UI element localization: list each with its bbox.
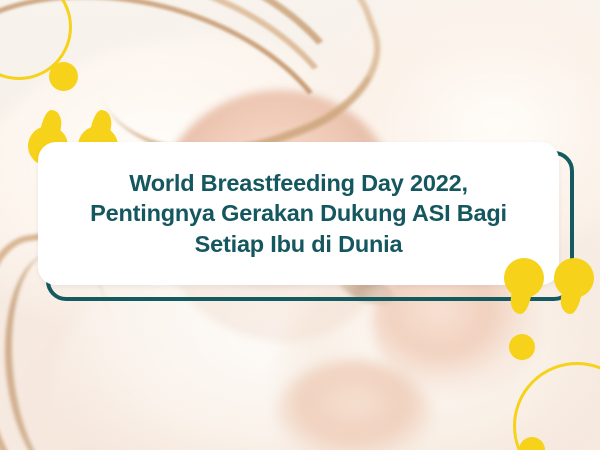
- banner-image: World Breastfeeding Day 2022, Pentingnya…: [0, 0, 600, 450]
- close-quote-mark-2: [554, 258, 594, 314]
- close-quote-mark-1: [504, 258, 544, 314]
- close-quote-icon: [504, 258, 600, 316]
- title-card: World Breastfeeding Day 2022, Pentingnya…: [38, 142, 559, 285]
- dot-bottom-right-icon: [509, 334, 535, 360]
- dot-top-left-icon: [49, 62, 78, 91]
- page-title: World Breastfeeding Day 2022, Pentingnya…: [64, 168, 533, 260]
- close-quote-tail-1: [508, 280, 533, 314]
- close-quote-tail-2: [558, 280, 583, 314]
